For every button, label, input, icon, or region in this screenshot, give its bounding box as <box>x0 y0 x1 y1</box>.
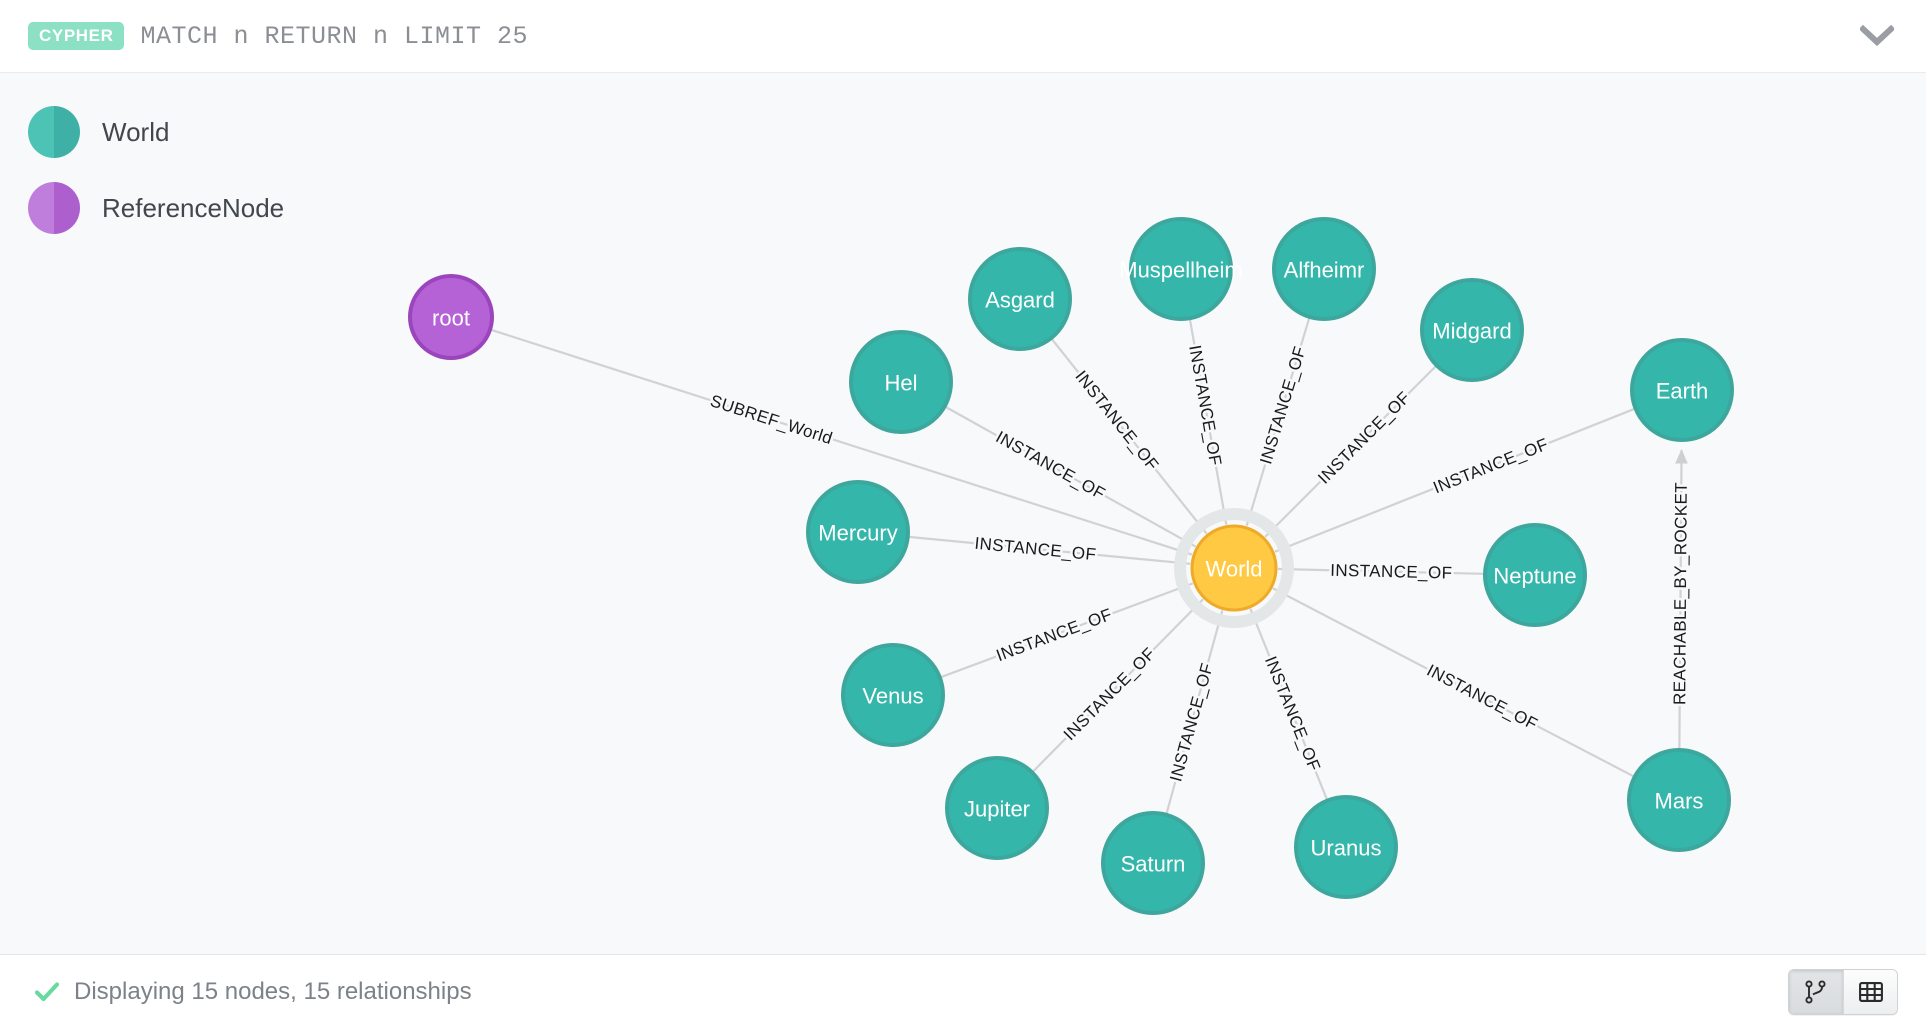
graph-node[interactable]: Neptune <box>1485 525 1585 625</box>
node-label: World <box>1205 557 1262 582</box>
relationship-label: REACHABLE_BY_ROCKET <box>1670 482 1691 705</box>
relationship-label: SUBREF_World <box>708 391 835 448</box>
node-label: root <box>432 306 470 331</box>
legend-label-world: World <box>102 117 169 148</box>
relationship-label: INSTANCE_OF <box>1166 661 1217 784</box>
relationship-label: INSTANCE_OF <box>1060 644 1159 744</box>
status-text: Displaying 15 nodes, 15 relationships <box>74 978 472 1006</box>
check-icon <box>34 979 60 1005</box>
graph-canvas[interactable]: World ReferenceNode SUBREF_WorldSUBREF_W… <box>0 73 1926 954</box>
legend: World ReferenceNode <box>28 101 284 253</box>
node-label: Earth <box>1656 379 1709 404</box>
swatch-half-light <box>28 182 54 234</box>
graph-node[interactable]: Earth <box>1632 340 1732 440</box>
node-label: Asgard <box>985 288 1055 313</box>
graph-node[interactable]: Asgard <box>970 249 1070 349</box>
relationship-label: INSTANCE_OF <box>974 534 1097 565</box>
table-icon <box>1859 981 1883 1003</box>
node-label: Mercury <box>818 521 897 546</box>
relationship-label: INSTANCE_OF <box>1185 344 1225 468</box>
swatch-half-dark <box>54 106 80 158</box>
graph-node[interactable]: Muspellheim <box>1119 219 1243 319</box>
status-bar: Displaying 15 nodes, 15 relationships <box>0 954 1926 1028</box>
nodes-layer: WorldrootHelAsgardMuspellheimAlfheimrMid… <box>410 219 1732 913</box>
graph-node[interactable]: Alfheimr <box>1274 219 1374 319</box>
relationship-label: INSTANCE_OF <box>1261 654 1324 774</box>
legend-item-world[interactable]: World <box>28 101 284 163</box>
relationship-label: INSTANCE_OF <box>1330 561 1453 583</box>
graph-view-button[interactable] <box>1789 970 1843 1014</box>
relationship-label: INSTANCE_OF <box>993 427 1109 503</box>
graph-visualization[interactable]: SUBREF_WorldSUBREF_WorldINSTANCE_OFINSTA… <box>0 73 1926 954</box>
node-label: Alfheimr <box>1284 258 1365 283</box>
view-toggle-group <box>1788 969 1898 1015</box>
relationship-label: INSTANCE_OF <box>1314 388 1414 488</box>
relationship-label: INSTANCE_OF <box>1430 435 1551 498</box>
node-label: Muspellheim <box>1119 258 1243 283</box>
node-label: Jupiter <box>964 797 1030 822</box>
query-text: MATCH n RETURN n LIMIT 25 <box>140 22 528 51</box>
node-label: Midgard <box>1432 319 1511 344</box>
swatch-half-light <box>28 106 54 158</box>
relationship-label: INSTANCE_OF <box>1071 367 1162 474</box>
graph-node[interactable]: root <box>410 276 492 358</box>
swatch-half-dark <box>54 182 80 234</box>
graph-node[interactable]: Mars <box>1629 750 1729 850</box>
node-label: Neptune <box>1493 564 1576 589</box>
graph-node[interactable]: Mercury <box>808 482 908 582</box>
node-label: Saturn <box>1121 852 1186 877</box>
graph-node[interactable]: Jupiter <box>947 758 1047 858</box>
graph-icon <box>1805 980 1827 1004</box>
graph-node[interactable]: Venus <box>843 645 943 745</box>
cypher-badge: CYPHER <box>28 22 124 50</box>
query-bar: CYPHER MATCH n RETURN n LIMIT 25 <box>0 0 1926 73</box>
relationship-label: INSTANCE_OF <box>994 605 1115 665</box>
legend-swatch-referencenode <box>28 182 80 234</box>
graph-node[interactable]: Hel <box>851 332 951 432</box>
graph-node[interactable]: Saturn <box>1103 813 1203 913</box>
node-label: Uranus <box>1311 836 1382 861</box>
node-label: Venus <box>862 684 923 709</box>
collapse-results-button[interactable] <box>1854 13 1900 59</box>
chevron-down-icon <box>1860 25 1894 47</box>
node-label: Hel <box>884 371 917 396</box>
graph-node[interactable]: World <box>1180 514 1288 622</box>
legend-item-referencenode[interactable]: ReferenceNode <box>28 177 284 239</box>
relationship-label: INSTANCE_OF <box>1256 344 1309 466</box>
node-label: Mars <box>1655 789 1704 814</box>
relationship-label: INSTANCE_OF <box>1424 661 1541 734</box>
table-view-button[interactable] <box>1843 970 1897 1014</box>
legend-label-referencenode: ReferenceNode <box>102 193 284 224</box>
neo4j-result-frame: CYPHER MATCH n RETURN n LIMIT 25 World <box>0 0 1926 1028</box>
graph-node[interactable]: Uranus <box>1296 797 1396 897</box>
legend-swatch-world <box>28 106 80 158</box>
graph-node[interactable]: Midgard <box>1422 280 1522 380</box>
